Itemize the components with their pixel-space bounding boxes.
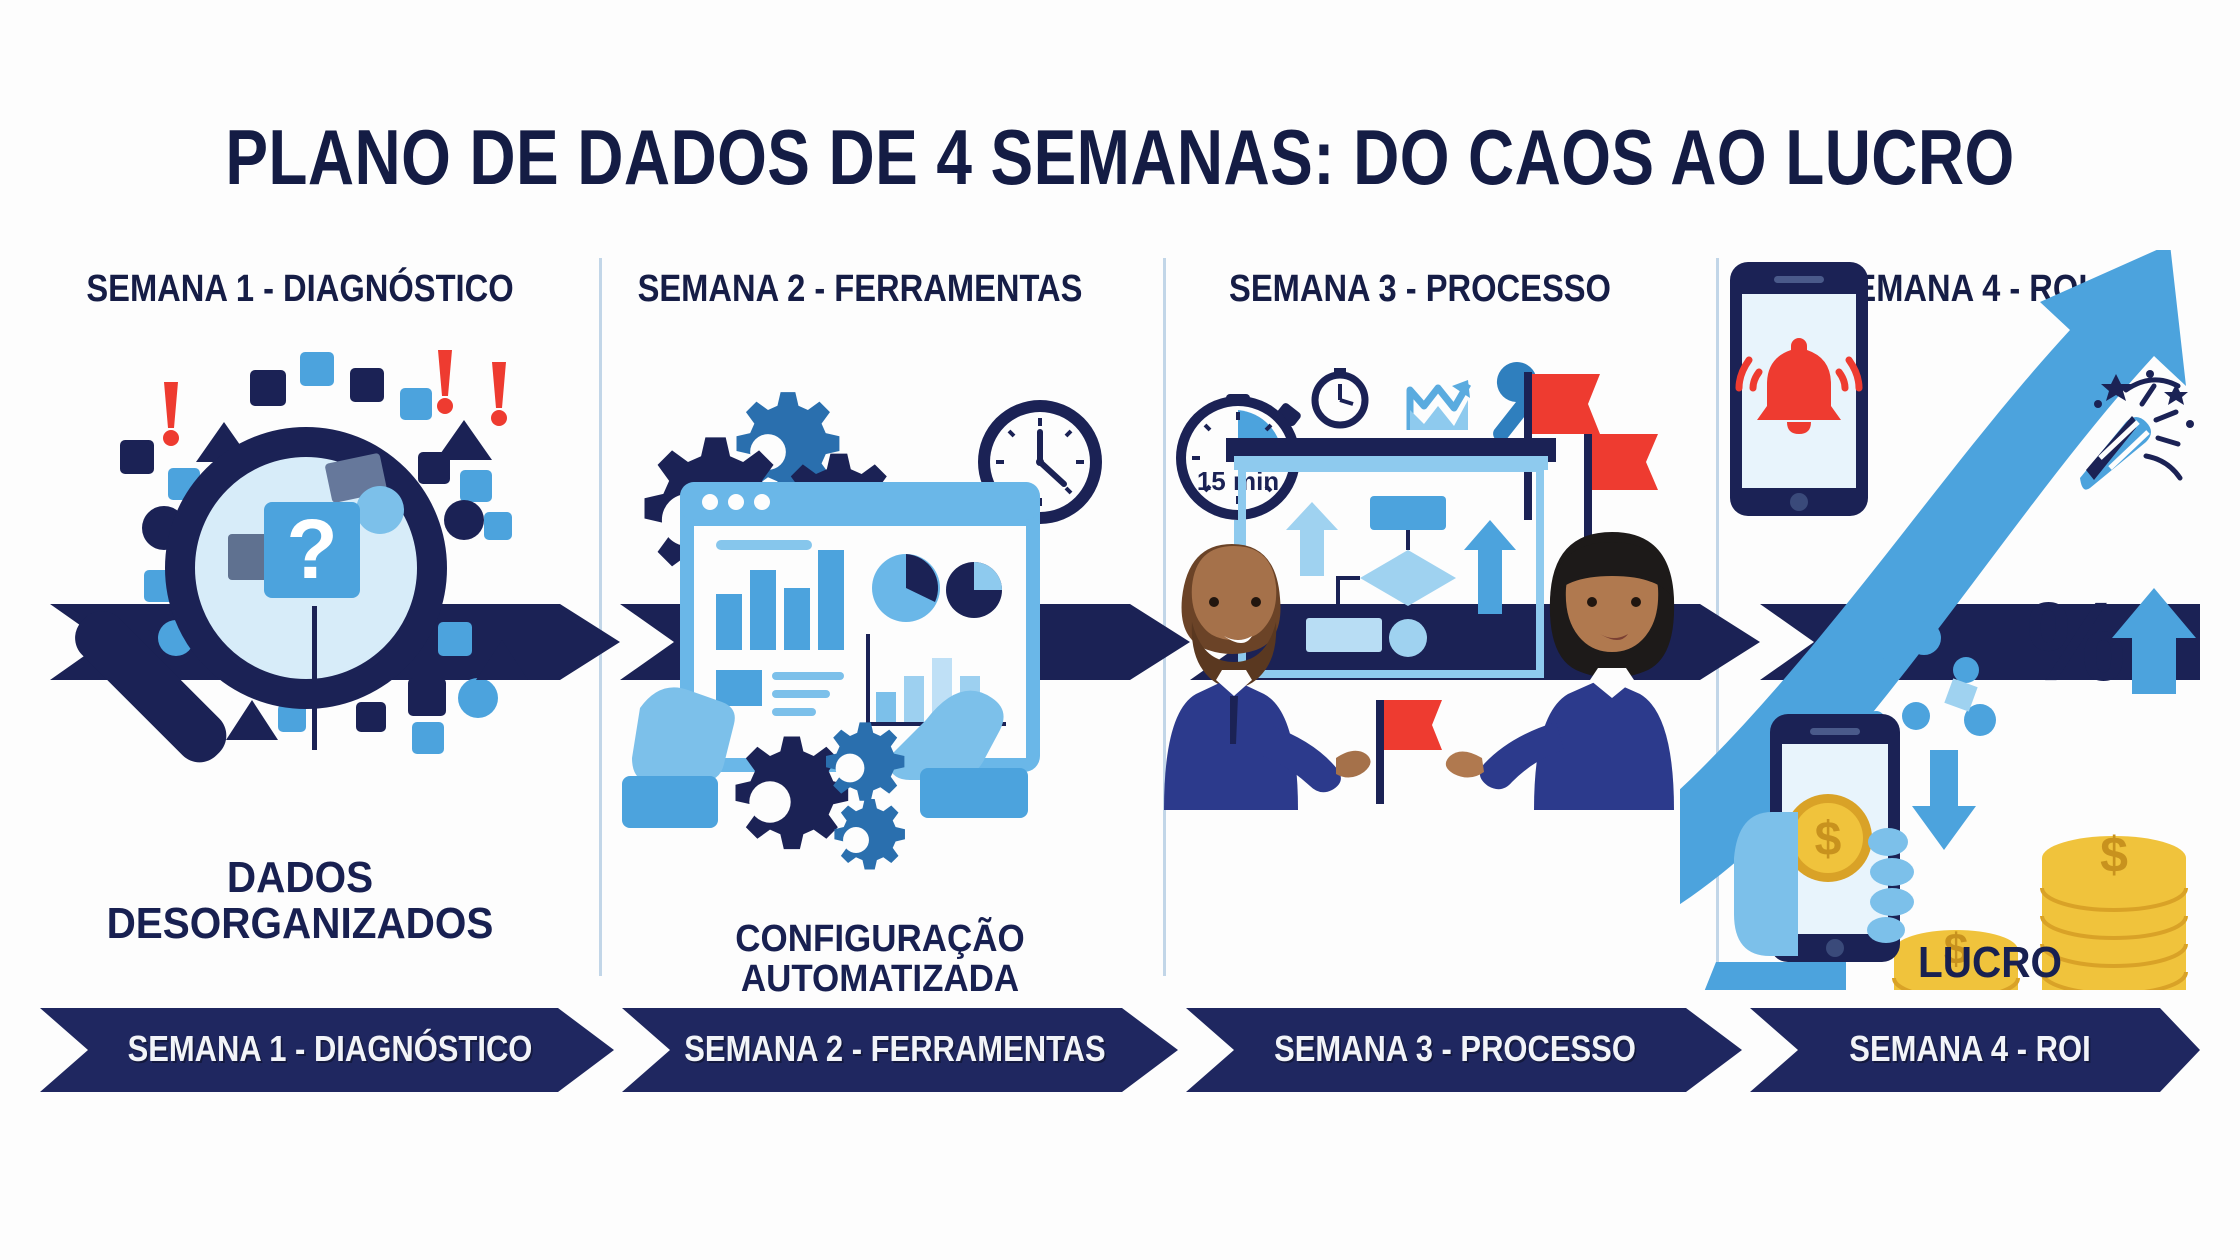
- question-mark-icon: ?: [286, 502, 337, 596]
- timeline-step-4[interactable]: SEMANA 4 - ROI: [1789, 1028, 2150, 1074]
- smartphone-bell-icon: [1730, 262, 1868, 516]
- trend-chart-icon: [1410, 380, 1470, 430]
- timeline-step-2[interactable]: SEMANA 2 - FERRAMENTAS: [667, 1028, 1123, 1074]
- illustration-week2: [620, 340, 1150, 900]
- column-header-week3: SEMANA 3 - PROCESSO: [1188, 268, 1652, 311]
- stopwatch-icon: [1315, 368, 1365, 425]
- caption-week1: DADOS DESORGANIZADOS: [79, 855, 521, 947]
- caption-week2: CONFIGURAÇÃO AUTOMATIZADA: [641, 920, 1119, 1000]
- timeline-step-1[interactable]: SEMANA 1 - DIAGNÓSTICO: [98, 1028, 562, 1074]
- illustration-week3: 15 min: [1160, 350, 1700, 810]
- infographic-canvas: PLANO DE DADOS DE 4 SEMANAS: DO CAOS AO …: [0, 0, 2240, 1260]
- column-header-week2: SEMANA 2 - FERRAMENTAS: [619, 268, 1101, 311]
- illustration-week1: ?: [60, 330, 580, 860]
- svg-text:$: $: [1815, 813, 1842, 866]
- caption-week4: LUCRO: [1852, 940, 2128, 986]
- page-title: PLANO DE DADOS DE 4 SEMANAS: DO CAOS AO …: [202, 112, 2039, 203]
- svg-text:$: $: [2100, 827, 2128, 883]
- timeline-step-3[interactable]: SEMANA 3 - PROCESSO: [1231, 1028, 1678, 1074]
- percent-symbol: %: [2026, 579, 2126, 704]
- column-header-week1: SEMANA 1 - DIAGNÓSTICO: [68, 268, 532, 311]
- illustration-week4: %: [1680, 250, 2240, 990]
- down-arrow-icon: [1912, 750, 1976, 850]
